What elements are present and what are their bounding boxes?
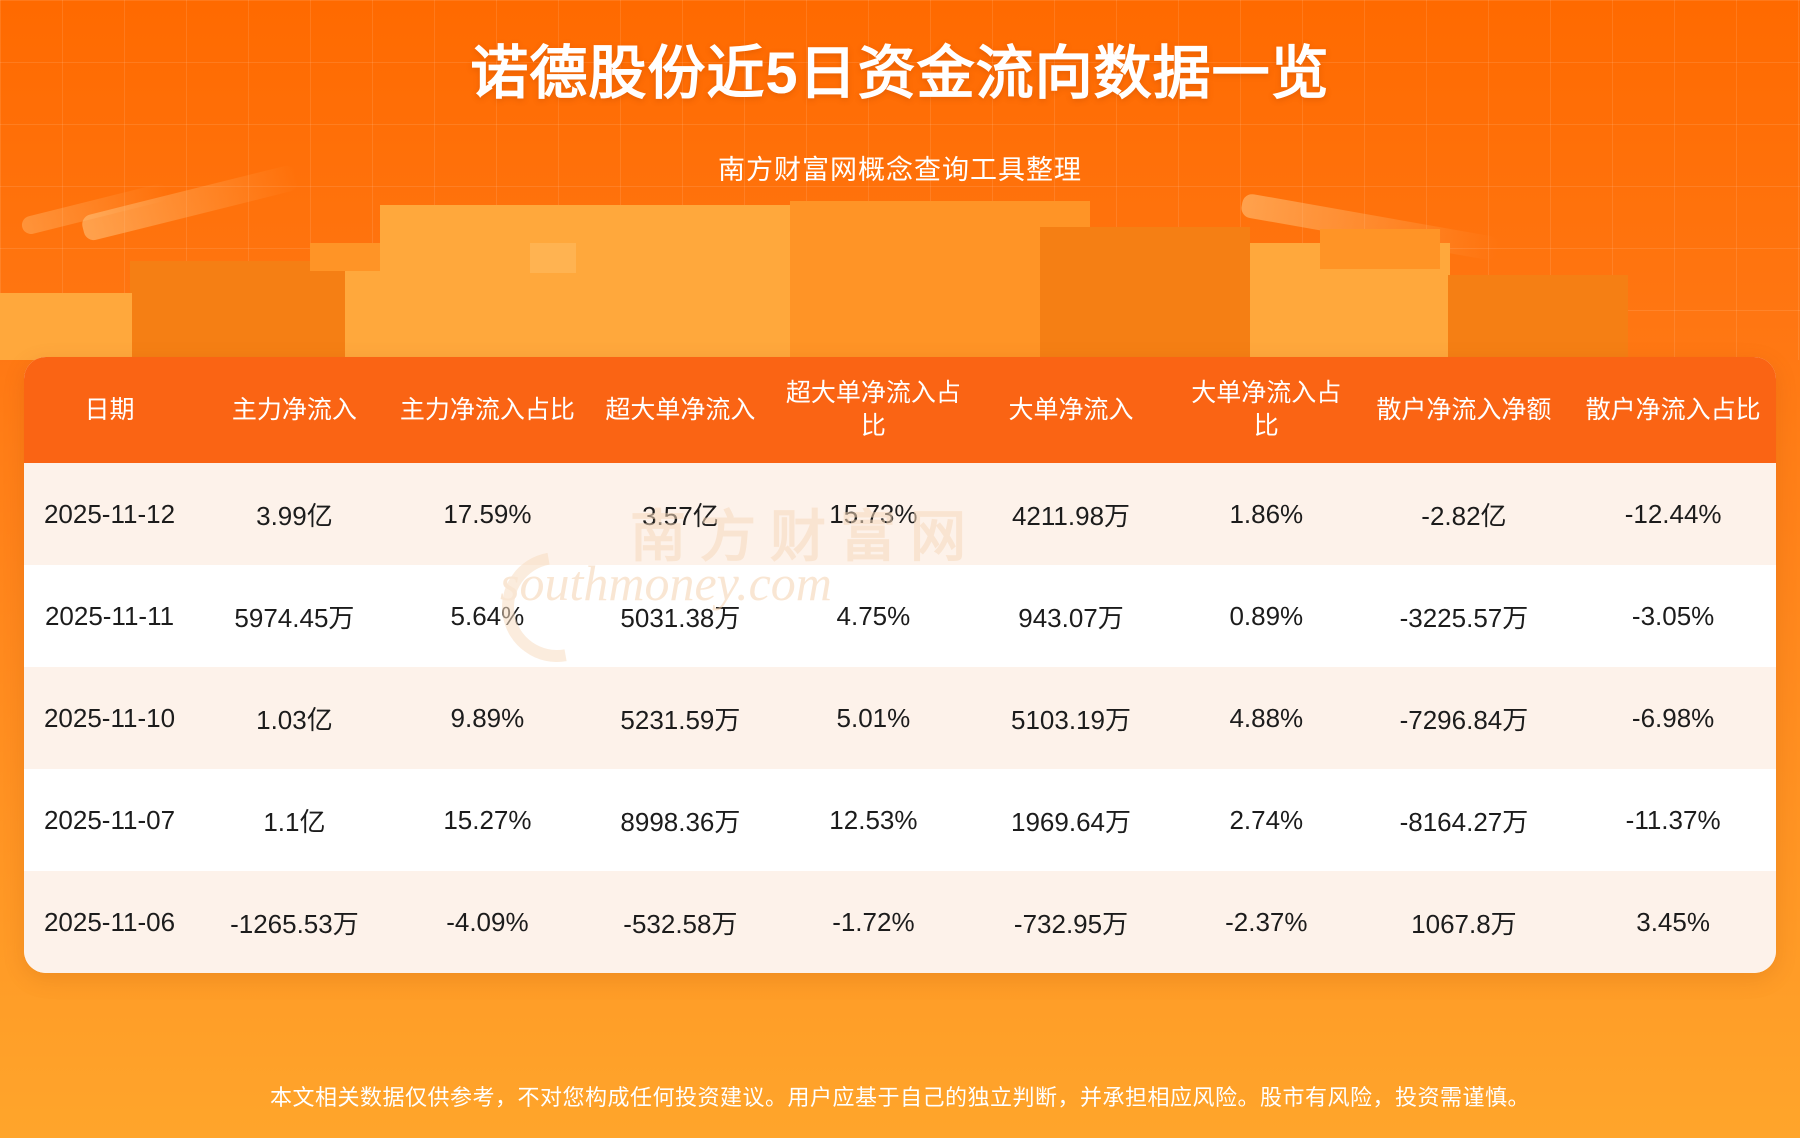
table-row: 2025-11-12 3.99亿 17.59% 3.57亿 15.73% 421… — [24, 463, 1776, 565]
cell-main-pct: -4.09% — [394, 871, 581, 973]
cell-xl-net: 5231.59万 — [581, 667, 780, 769]
cell-lg-net: 1969.64万 — [967, 769, 1175, 871]
cell-main-net: 5974.45万 — [195, 565, 394, 667]
table-row: 2025-11-06 -1265.53万 -4.09% -532.58万 -1.… — [24, 871, 1776, 973]
cell-retail-pct: -12.44% — [1570, 463, 1776, 565]
table-row: 2025-11-10 1.03亿 9.89% 5231.59万 5.01% 51… — [24, 667, 1776, 769]
cell-main-net: 3.99亿 — [195, 463, 394, 565]
column-header-retail-net: 散户净流入净额 — [1358, 357, 1571, 463]
column-header-main-net: 主力净流入 — [195, 357, 394, 463]
cell-lg-pct: 4.88% — [1175, 667, 1358, 769]
cell-xl-net: 8998.36万 — [581, 769, 780, 871]
cell-main-pct: 5.64% — [394, 565, 581, 667]
cell-main-net: 1.1亿 — [195, 769, 394, 871]
cell-retail-pct: -3.05% — [1570, 565, 1776, 667]
cell-main-pct: 9.89% — [394, 667, 581, 769]
cell-retail-net: -3225.57万 — [1358, 565, 1571, 667]
column-header-retail-pct: 散户净流入占比 — [1570, 357, 1776, 463]
column-header-lg-net: 大单净流入 — [967, 357, 1175, 463]
cell-xl-net: 3.57亿 — [581, 463, 780, 565]
light-streak-topleft — [20, 182, 170, 236]
cell-xl-net: -532.58万 — [581, 871, 780, 973]
cell-retail-net: 1067.8万 — [1358, 871, 1571, 973]
table-header-row: 日期 主力净流入 主力净流入占比 超大单净流入 超大单净流入占比 大单净流入 大… — [24, 357, 1776, 463]
cell-xl-pct: 12.53% — [780, 769, 967, 871]
column-header-xl-pct: 超大单净流入占比 — [780, 357, 967, 463]
column-header-lg-pct: 大单净流入占比 — [1175, 357, 1358, 463]
table-row: 2025-11-11 5974.45万 5.64% 5031.38万 4.75%… — [24, 565, 1776, 667]
cell-xl-pct: 4.75% — [780, 565, 967, 667]
cell-lg-net: 4211.98万 — [967, 463, 1175, 565]
cell-retail-net: -8164.27万 — [1358, 769, 1571, 871]
cell-xl-pct: -1.72% — [780, 871, 967, 973]
light-streak-right — [1240, 193, 1500, 262]
cell-lg-pct: 2.74% — [1175, 769, 1358, 871]
column-header-xl-net: 超大单净流入 — [581, 357, 780, 463]
cell-date: 2025-11-10 — [24, 667, 195, 769]
cell-retail-pct: -11.37% — [1570, 769, 1776, 871]
table-header: 日期 主力净流入 主力净流入占比 超大单净流入 超大单净流入占比 大单净流入 大… — [24, 357, 1776, 463]
table-row: 2025-11-07 1.1亿 15.27% 8998.36万 12.53% 1… — [24, 769, 1776, 871]
cell-date: 2025-11-11 — [24, 565, 195, 667]
column-header-date: 日期 — [24, 357, 195, 463]
cell-main-net: 1.03亿 — [195, 667, 394, 769]
page-title: 诺德股份近5日资金流向数据一览 — [0, 42, 1800, 106]
cell-retail-pct: 3.45% — [1570, 871, 1776, 973]
table-body: 2025-11-12 3.99亿 17.59% 3.57亿 15.73% 421… — [24, 463, 1776, 973]
fund-flow-table-card: 日期 主力净流入 主力净流入占比 超大单净流入 超大单净流入占比 大单净流入 大… — [24, 357, 1776, 973]
cell-lg-net: 5103.19万 — [967, 667, 1175, 769]
cell-lg-pct: 0.89% — [1175, 565, 1358, 667]
cell-date: 2025-11-12 — [24, 463, 195, 565]
cell-lg-net: 943.07万 — [967, 565, 1175, 667]
cell-retail-net: -2.82亿 — [1358, 463, 1571, 565]
cell-date: 2025-11-06 — [24, 871, 195, 973]
cell-main-pct: 17.59% — [394, 463, 581, 565]
cell-xl-pct: 5.01% — [780, 667, 967, 769]
decorative-podium — [0, 185, 1800, 360]
cell-lg-net: -732.95万 — [967, 871, 1175, 973]
cell-main-pct: 15.27% — [394, 769, 581, 871]
cell-retail-net: -7296.84万 — [1358, 667, 1571, 769]
cell-main-net: -1265.53万 — [195, 871, 394, 973]
disclaimer-text: 本文相关数据仅供参考，不对您构成任何投资建议。用户应基于自己的独立判断，并承担相… — [0, 1080, 1800, 1112]
page-root: 诺德股份近5日资金流向数据一览 南方财富网概念查询工具整理 日期 主力净流入 主… — [0, 0, 1800, 1138]
cell-xl-net: 5031.38万 — [581, 565, 780, 667]
page-subtitle: 南方财富网概念查询工具整理 — [0, 148, 1800, 187]
cell-date: 2025-11-07 — [24, 769, 195, 871]
cell-lg-pct: -2.37% — [1175, 871, 1358, 973]
cell-retail-pct: -6.98% — [1570, 667, 1776, 769]
column-header-main-pct: 主力净流入占比 — [394, 357, 581, 463]
fund-flow-table: 日期 主力净流入 主力净流入占比 超大单净流入 超大单净流入占比 大单净流入 大… — [24, 357, 1776, 973]
cell-xl-pct: 15.73% — [780, 463, 967, 565]
cell-lg-pct: 1.86% — [1175, 463, 1358, 565]
